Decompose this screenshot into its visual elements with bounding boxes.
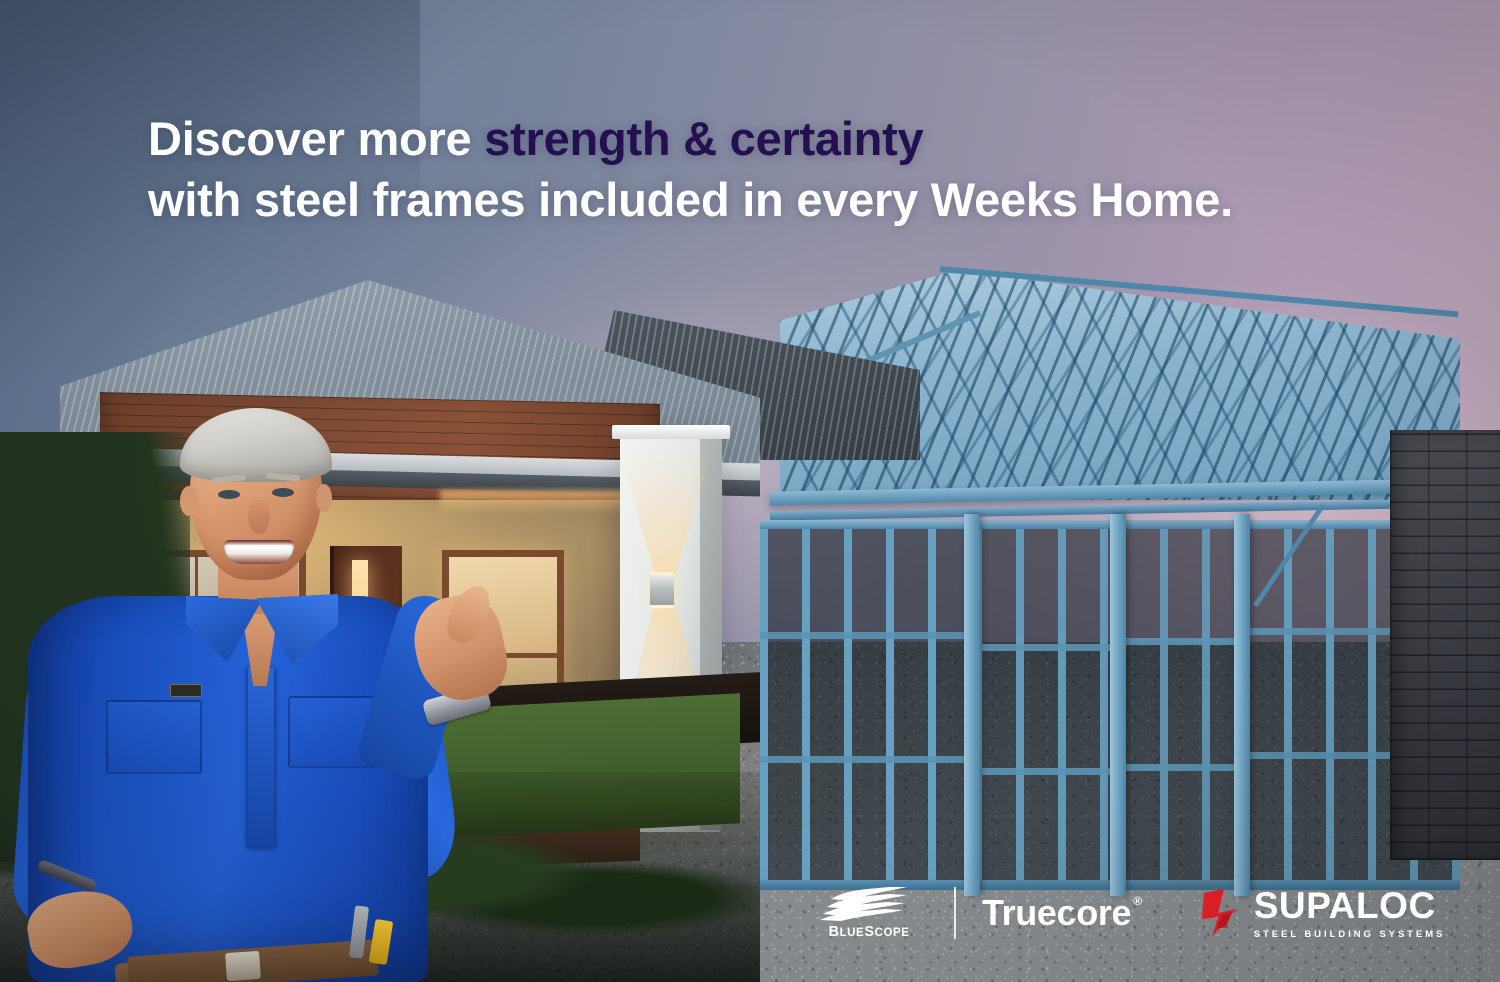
marketing-banner: Discover more strength & certainty with … xyxy=(0,0,1500,982)
truecore-registered-mark: ® xyxy=(1133,894,1141,908)
bluescope-logo: BLUESCOPE xyxy=(810,887,928,940)
headline-line-1-plain: Discover more xyxy=(148,112,484,165)
bluescope-word-lue: LUE xyxy=(840,927,865,939)
headline-line-1: Discover more strength & certainty xyxy=(148,108,1233,169)
eye-right xyxy=(272,488,294,497)
headline: Discover more strength & certainty with … xyxy=(148,108,1233,230)
corner-post-left xyxy=(964,514,980,896)
partner-logo-bar: BLUESCOPE Truecore ® SUPALOC STEEL BUILD… xyxy=(810,876,1445,950)
bluescope-word-b: B xyxy=(829,924,840,940)
nose xyxy=(248,500,270,534)
truecore-wordmark: Truecore xyxy=(982,892,1131,934)
supaloc-logo: SUPALOC STEEL BUILDING SYSTEMS xyxy=(1202,887,1446,940)
truecore-logo: Truecore ® xyxy=(982,892,1142,934)
man-presenter xyxy=(20,400,440,982)
shirt-pocket-left xyxy=(106,700,202,774)
truecore-o-dot-icon xyxy=(1071,909,1078,916)
supaloc-bolt-icon xyxy=(1202,887,1250,939)
bluescope-wordmark: BLUESCOPE xyxy=(829,924,910,940)
bluescope-word-cope: COPE xyxy=(875,927,910,939)
belt-buckle xyxy=(225,951,261,981)
bluescope-wave-icon xyxy=(819,887,919,921)
supaloc-wordmark: SUPALOC xyxy=(1254,887,1446,924)
pillar-wall-light xyxy=(650,572,674,608)
brick-wall-right xyxy=(1390,430,1500,860)
supaloc-tagline: STEEL BUILDING SYSTEMS xyxy=(1254,929,1446,940)
eye-left xyxy=(218,490,240,499)
ear-right xyxy=(316,484,332,512)
shirt-brand-tab xyxy=(170,684,202,697)
hair xyxy=(180,408,332,482)
corner-post-mid xyxy=(1110,514,1126,896)
bluescope-word-s: S xyxy=(864,924,874,940)
corner-post-right xyxy=(1234,514,1250,896)
smiling-mouth xyxy=(224,540,294,564)
headline-line-2: with steel frames included in every Week… xyxy=(148,169,1233,230)
shirt-placket xyxy=(248,668,274,848)
entry-pillar-cap xyxy=(612,425,730,439)
headline-accent-phrase: strength & certainty xyxy=(484,112,923,165)
logo-divider xyxy=(954,887,956,939)
ear-left xyxy=(180,486,198,516)
